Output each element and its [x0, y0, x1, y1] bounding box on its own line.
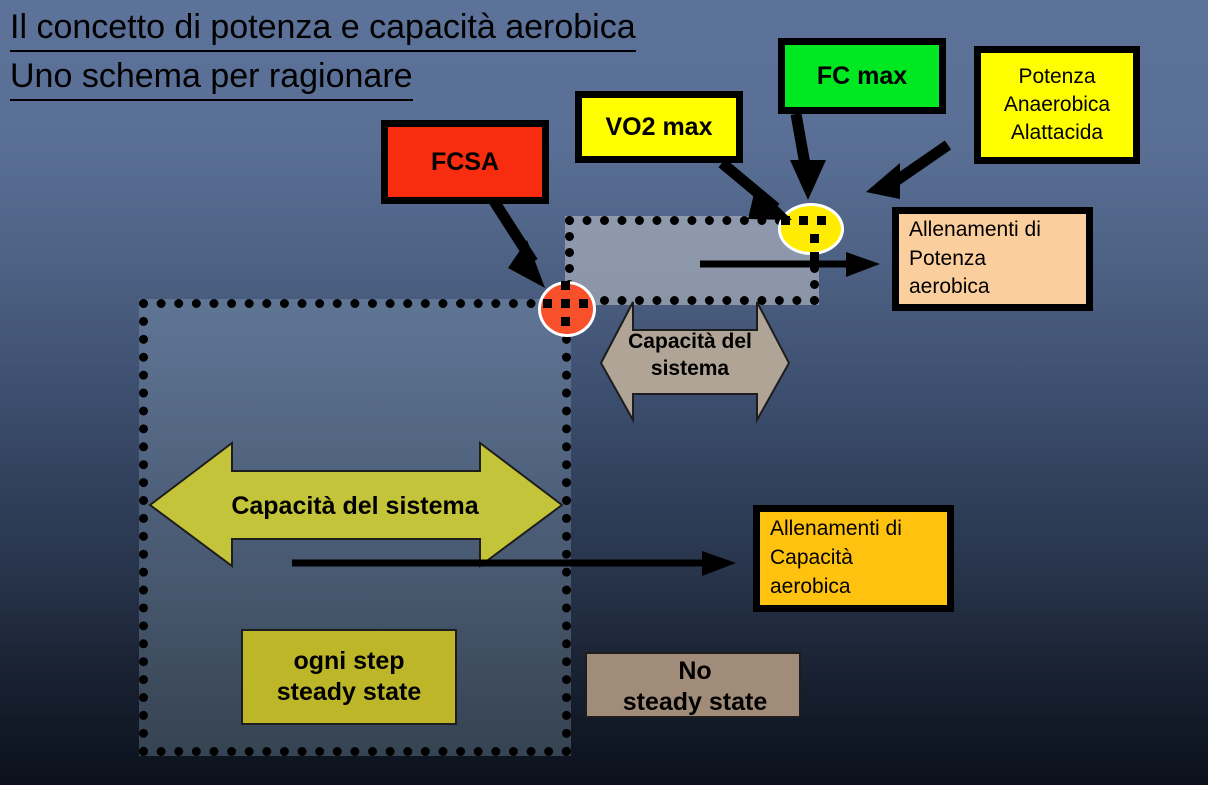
orange-blob [538, 281, 596, 337]
fcmax-label: FC max [817, 62, 907, 91]
fcsa-box[interactable]: FCSA [381, 120, 549, 204]
allenamenti-potenza-line-1: Allenamenti di [909, 216, 1041, 245]
no-steady-state-box[interactable]: No steady state [585, 652, 801, 718]
capacita-sistema-small-line-1: Capacità del [600, 329, 780, 356]
title-line-1: Il concetto di potenza e capacità aerobi… [10, 6, 636, 52]
arrow-fcmax-to-yellow-blob [790, 114, 826, 200]
potenza-anaerobica-line-2: Anaerobica [1004, 91, 1110, 119]
title-line-2: Uno schema per ragionare [10, 55, 413, 101]
allenamenti-capacita-aerobica-box[interactable]: Allenamenti di Capacità aerobica [753, 505, 954, 612]
allenamenti-potenza-line-3: aerobica [909, 273, 1041, 302]
arrow-fcsa-to-orange-blob [492, 198, 545, 288]
vo2max-box[interactable]: VO2 max [575, 91, 743, 163]
vo2max-label: VO2 max [605, 113, 712, 142]
allenamenti-capacita-line-1: Allenamenti di [770, 515, 902, 544]
capacita-sistema-small-label: Capacità del sistema [600, 329, 780, 383]
capacita-sistema-big-label: Capacità del sistema [180, 492, 530, 521]
fcmax-box[interactable]: FC max [778, 38, 946, 114]
yellow-blob [778, 203, 844, 255]
capacita-sistema-small-line-2: sistema [600, 356, 780, 383]
arrow-vo2max-to-yellow-blob [722, 163, 792, 220]
potenza-anaerobica-line-1: Potenza [1004, 63, 1110, 91]
ogni-step-steady-state-box[interactable]: ogni step steady state [241, 629, 457, 725]
no-steady-line-2: steady state [587, 687, 803, 718]
slide-canvas: Il concetto di potenza e capacità aerobi… [0, 0, 1208, 785]
page-title: Il concetto di potenza e capacità aerobi… [10, 6, 810, 101]
potenza-anaerobica-alattacida-box[interactable]: Potenza Anaerobica Alattacida [974, 46, 1140, 164]
ogni-step-line-1: ogni step [277, 646, 422, 677]
allenamenti-potenza-line-2: Potenza [909, 245, 1041, 274]
allenamenti-potenza-aerobica-box[interactable]: Allenamenti di Potenza aerobica [892, 207, 1093, 311]
no-steady-line-1: No [587, 656, 803, 687]
arrow-anaerobica-to-yellow-blob [866, 145, 948, 199]
ogni-step-line-2: steady state [277, 677, 422, 708]
allenamenti-capacita-line-2: Capacità [770, 544, 902, 573]
potenza-anaerobica-line-3: Alattacida [1004, 119, 1110, 147]
allenamenti-capacita-line-3: aerobica [770, 573, 902, 602]
fcsa-label: FCSA [431, 148, 499, 177]
